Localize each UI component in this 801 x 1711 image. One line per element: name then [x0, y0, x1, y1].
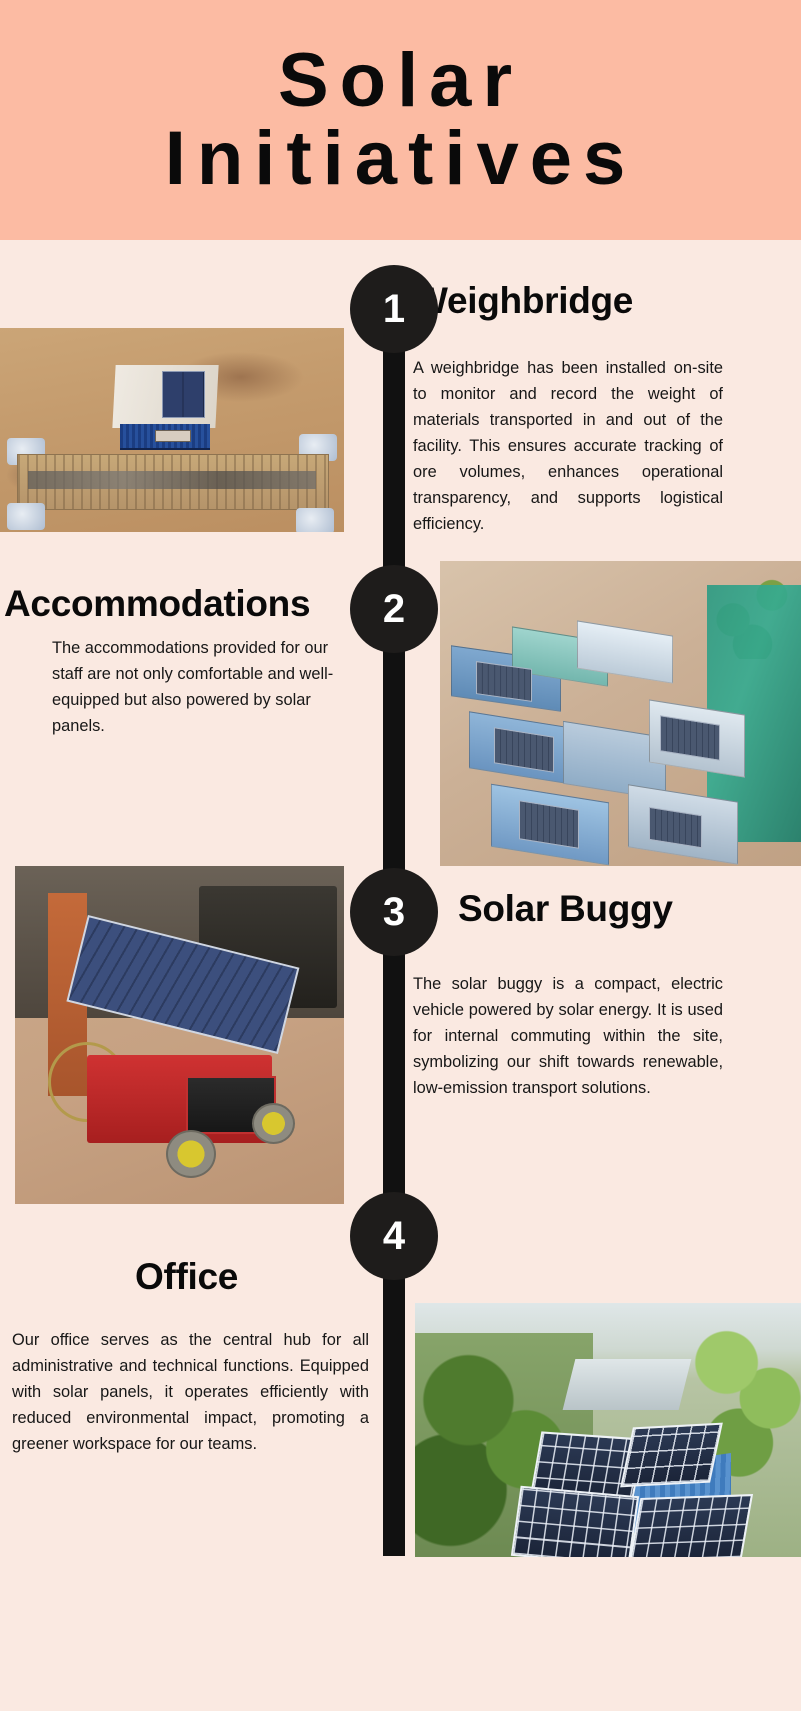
section-4-body: Our office serves as the central hub for… [12, 1328, 369, 1458]
section-4-heading: Office [0, 1258, 373, 1297]
section-2-heading: Accommodations [4, 585, 334, 624]
section-3-heading: Solar Buggy [458, 890, 673, 929]
section-1-heading: Weighbridge [413, 282, 723, 321]
timeline-node-1[interactable]: 1 [350, 265, 438, 353]
section-2-body: The accommodations provided for our staf… [52, 636, 342, 740]
timeline-node-2[interactable]: 2 [350, 565, 438, 653]
timeline-node-4[interactable]: 4 [350, 1192, 438, 1280]
section-3-body: The solar buggy is a compact, electric v… [413, 972, 723, 1102]
timeline-node-2-number: 2 [383, 587, 405, 632]
timeline-node-3-number: 3 [383, 890, 405, 935]
section-4-image-office [415, 1303, 801, 1557]
section-1-body: A weighbridge has been installed on-site… [413, 356, 723, 537]
section-3-image-solar-buggy [15, 866, 344, 1204]
section-1-image-weighbridge [0, 328, 344, 532]
timeline-node-1-number: 1 [383, 287, 405, 332]
timeline-node-3[interactable]: 3 [350, 868, 438, 956]
page-header: Solar Initiatives [0, 0, 801, 240]
page-title-line-2: Initiatives [165, 122, 637, 196]
timeline-node-4-number: 4 [383, 1214, 405, 1259]
page-title-line-1: Solar [278, 44, 523, 118]
section-2-image-accommodations [440, 561, 801, 866]
